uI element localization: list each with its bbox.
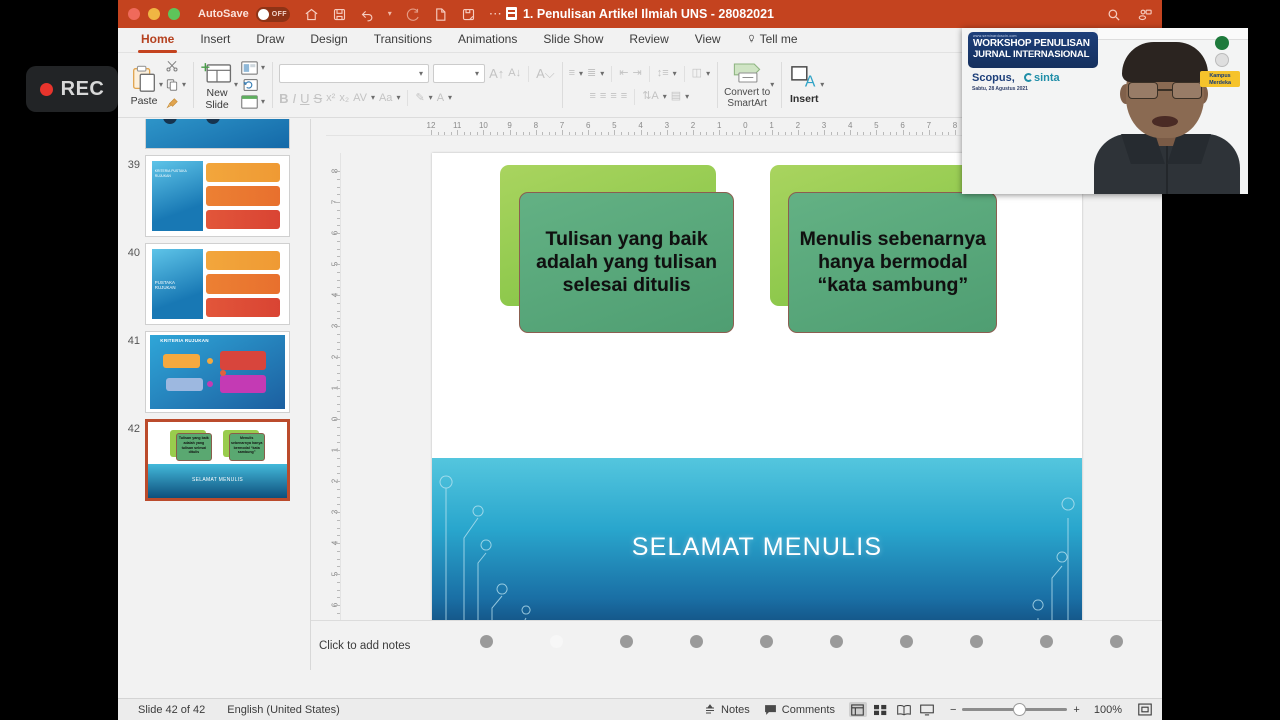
screen-root: REC AutoSave OFF — [0, 0, 1280, 720]
ruler-tick — [337, 435, 340, 436]
recording-indicator: REC — [26, 66, 118, 112]
ruler-tick — [334, 543, 340, 544]
ruler-tick — [857, 132, 858, 135]
ruler-tick — [739, 132, 740, 135]
ruler-tick — [337, 466, 340, 467]
scopus-logo: Scopus, — [972, 72, 1015, 84]
superscript-icon[interactable]: x² — [326, 93, 335, 104]
ruler-tick — [337, 225, 340, 226]
change-case-dropdown-icon[interactable]: ▾ — [396, 94, 400, 102]
zoom-slider[interactable]: − + — [950, 704, 1080, 716]
ruler-tick — [334, 574, 340, 575]
ruler-tick — [337, 249, 340, 250]
slide-canvas[interactable]: 87654321012345678 Tulisan yang baik adal… — [326, 136, 1162, 670]
kampus-merdeka-line-1: Kampus — [1209, 73, 1230, 79]
tab-view[interactable]: View — [682, 28, 734, 53]
subscript-icon[interactable]: x₂ — [339, 93, 349, 104]
align-text-icon[interactable]: ▤ — [671, 91, 681, 102]
ruler-tick — [337, 342, 340, 343]
ruler-tick — [337, 613, 340, 614]
comments-button[interactable]: Comments — [764, 704, 835, 716]
reading-view-button[interactable] — [895, 702, 913, 717]
thumbnail-slide[interactable]: KRITERIA PUSTAKARUJUKAN — [145, 155, 290, 237]
pagination-dot[interactable] — [480, 635, 493, 648]
maximize-window-button[interactable] — [168, 8, 180, 20]
zoom-in-button[interactable]: + — [1073, 704, 1079, 716]
thumbnail-item[interactable]: 39 KRITERIA PUSTAKARUJUKAN — [118, 149, 310, 237]
workshop-date: Sabtu, 28 Agustus 2021 — [972, 86, 1028, 92]
home-icon[interactable] — [304, 7, 319, 22]
pagination-dot[interactable] — [620, 635, 633, 648]
tab-transitions-label: Transitions — [374, 32, 432, 46]
language-label[interactable]: English (United States) — [227, 704, 340, 716]
paragraph-group: ≡ ▾ ≣ ▾ ⇤ ⇥ ↕≡ ▾ ◫ ▾ ≡ ≡ ≡ — [562, 53, 717, 117]
fit-slide-button[interactable] — [1136, 702, 1154, 717]
pagination-dot[interactable] — [900, 635, 913, 648]
text-direction-dropdown-icon[interactable]: ▾ — [663, 93, 667, 101]
insert-label: Insert — [790, 93, 819, 105]
ruler-tick — [686, 132, 687, 135]
insert-dropdown-icon[interactable]: ▾ — [820, 81, 824, 89]
slide-banner[interactable]: SELAMAT MENULIS — [432, 458, 1082, 645]
ruler-tick — [337, 566, 340, 567]
comment-icon — [764, 704, 777, 716]
font-color-dropdown-icon[interactable]: ▾ — [448, 94, 452, 102]
ruler-tick — [614, 130, 615, 135]
justify-icon[interactable]: ≡ — [621, 91, 627, 102]
ruler-tick — [896, 132, 897, 135]
redo-icon[interactable] — [405, 7, 420, 22]
fit-slide-icon — [1138, 703, 1152, 716]
font-group: ▾ ▾ A↑ A↓ A⌵ B I U — [272, 53, 562, 117]
new-slide-label-1: New — [207, 87, 228, 99]
ruler-label: 11 — [453, 121, 461, 130]
ruler-tick — [337, 489, 340, 490]
paste-button[interactable]: Paste — [129, 64, 159, 107]
ruler-tick — [337, 458, 340, 459]
thumbnail-slide[interactable]: SELAMAT MENULIS Tulisan yang baik adalah… — [145, 419, 290, 501]
window-controls[interactable] — [128, 8, 180, 20]
strikethrough-icon[interactable]: S — [313, 92, 322, 105]
paste-icon — [129, 64, 159, 94]
ruler-label: 8 — [953, 121, 957, 130]
recording-label: REC — [61, 78, 105, 101]
smartart-label-2: SmartArt — [727, 98, 766, 109]
normal-view-button[interactable] — [849, 702, 867, 717]
ruler-tick — [752, 132, 753, 135]
current-slide[interactable]: Tulisan yang baik adalah yang tulisan se… — [432, 153, 1082, 645]
ruler-tick — [791, 132, 792, 135]
ruler-tick — [628, 132, 629, 135]
ruler-tick — [337, 520, 340, 521]
layout-icon — [241, 61, 258, 75]
convert-to-smartart-button[interactable]: Convert toSmartArt — [724, 61, 770, 109]
line-spacing-dropdown-icon[interactable]: ▾ — [673, 70, 677, 78]
font-size-dropdown-icon[interactable]: ▾ — [475, 70, 479, 78]
ruler-tick — [948, 132, 949, 135]
align-text-dropdown-icon[interactable]: ▾ — [685, 93, 689, 101]
ruler-tick — [334, 326, 340, 327]
increase-indent-icon[interactable]: ⇥ — [633, 68, 642, 79]
zoom-out-button[interactable]: − — [950, 704, 956, 716]
thumbnail-slide[interactable] — [145, 119, 290, 149]
webcam-logos: Kampus Merdeka — [1200, 34, 1244, 87]
ruler-tick — [337, 528, 340, 529]
bullets-dropdown-icon[interactable]: ▾ — [579, 70, 583, 78]
banner-line-1: WORKSHOP PENULISAN — [973, 38, 1093, 49]
tab-draw[interactable]: Draw — [243, 28, 297, 53]
ruler-tick — [337, 559, 340, 560]
ruler-tick — [337, 287, 340, 288]
align-center-icon[interactable]: ≡ — [600, 91, 606, 102]
pagination-dot[interactable] — [970, 635, 983, 648]
ruler-tick — [798, 130, 799, 135]
copy-icon — [165, 78, 179, 92]
shape-right-text: Menulis sebenarnya hanya bermodal “kata … — [789, 228, 996, 297]
font-size-input[interactable]: ▾ — [433, 64, 485, 83]
normal-view-icon — [851, 704, 864, 716]
smartart-group: Convert toSmartArt ▾ — [717, 53, 781, 117]
slideshow-button[interactable] — [918, 702, 936, 717]
tab-tell-me[interactable]: Tell me — [734, 28, 811, 53]
font-name-input[interactable]: ▾ — [279, 64, 429, 83]
ruler-tick — [334, 450, 340, 451]
ruler-tick — [337, 504, 340, 505]
ruler-tick — [909, 132, 910, 135]
undo-icon[interactable] — [360, 7, 375, 22]
ruler-tick — [334, 202, 340, 203]
ruler-tick — [337, 442, 340, 443]
slide-sorter-button[interactable] — [872, 702, 890, 717]
status-bar: Slide 42 of 42 English (United States) N… — [118, 698, 1162, 720]
slide-shape-left[interactable]: Tulisan yang baik adalah yang tulisan se… — [500, 165, 734, 332]
columns-icon[interactable]: ◫ — [692, 68, 702, 79]
thumbnail-item[interactable]: 40 PUSTAKARUJUKAN — [118, 237, 310, 325]
character-spacing-icon[interactable]: AV — [353, 93, 367, 104]
slideshow-icon — [920, 704, 934, 716]
shape-body[interactable]: Tulisan yang baik adalah yang tulisan se… — [519, 192, 734, 333]
pagination-dot[interactable] — [1040, 635, 1053, 648]
ruler-tick — [575, 132, 576, 135]
notes-pane[interactable]: Click to add notes — [311, 620, 1162, 670]
notes-button[interactable]: Notes — [704, 704, 750, 716]
ruler-tick — [759, 132, 760, 135]
paste-label: Paste — [131, 95, 158, 107]
tab-tell-me-label: Tell me — [760, 32, 798, 46]
shape-body[interactable]: Menulis sebenarnya hanya bermodal “kata … — [788, 192, 997, 333]
ruler-tick — [334, 233, 340, 234]
ruler-tick — [542, 132, 543, 135]
ruler-label: 7 — [927, 121, 931, 130]
tab-animations[interactable]: Animations — [445, 28, 530, 53]
ruler-tick — [444, 132, 445, 135]
reading-view-icon — [897, 704, 911, 716]
ruler-tick — [337, 597, 340, 598]
kampus-merdeka-logo: Kampus Merdeka — [1200, 71, 1240, 87]
ruler-tick — [477, 132, 478, 135]
new-slide-label-2: Slide — [205, 99, 228, 111]
notes-placeholder: Click to add notes — [319, 640, 410, 652]
ruler-tick — [337, 497, 340, 498]
ruler-tick — [337, 318, 340, 319]
text-direction-icon[interactable]: ⇅A — [642, 91, 659, 102]
ruler-label: 2 — [691, 121, 695, 130]
ruler-tick — [765, 132, 766, 135]
ruler-tick — [497, 132, 498, 135]
layout-dropdown-icon[interactable]: ▾ — [261, 64, 265, 72]
ruler-tick — [621, 132, 622, 135]
ruler-tick — [870, 132, 871, 135]
ruler-tick — [582, 132, 583, 135]
sinta-logo: sinta — [1024, 72, 1060, 84]
pagination-dot[interactable] — [550, 635, 563, 648]
more-icon[interactable]: ⋯ — [489, 10, 503, 18]
bold-icon[interactable]: B — [279, 92, 288, 105]
ruler-tick — [334, 481, 340, 482]
ruler-label: 3 — [665, 121, 669, 130]
close-window-button[interactable] — [128, 8, 140, 20]
decrease-font-size-icon[interactable]: A↓ — [508, 68, 521, 79]
thumbnail-number: 39 — [124, 155, 140, 171]
tab-insert[interactable]: Insert — [187, 28, 243, 53]
ruler-tick — [529, 132, 530, 135]
ruler-label: 5 — [874, 121, 878, 130]
share-icon[interactable] — [1137, 7, 1152, 22]
ruler-tick — [831, 132, 832, 135]
window-title-bar: AutoSave OFF ▾ — [118, 0, 1162, 28]
slide-sorter-icon — [874, 704, 887, 716]
smartart-dropdown-icon[interactable]: ▾ — [770, 81, 774, 89]
copy-button[interactable]: ▾ — [165, 78, 186, 92]
ruler-tick — [337, 365, 340, 366]
ruler-label: 1 — [769, 121, 773, 130]
thumbnail-item[interactable]: 38 — [118, 119, 310, 149]
ruler-tick — [641, 130, 642, 135]
ruler-tick — [595, 132, 596, 135]
ruler-tick — [562, 130, 563, 135]
save-as-icon[interactable] — [461, 7, 476, 22]
ruler-tick — [844, 132, 845, 135]
character-spacing-dropdown-icon[interactable]: ▾ — [371, 94, 375, 102]
ruler-tick — [337, 396, 340, 397]
ruler-tick — [660, 132, 661, 135]
decrease-indent-icon[interactable]: ⇤ — [619, 68, 628, 79]
zoom-track[interactable] — [962, 708, 1067, 711]
thumbnail-item[interactable]: 41 KRITERIA RUJUKAN — [118, 325, 310, 413]
ruler-tick — [337, 210, 340, 211]
zoom-knob[interactable] — [1013, 703, 1026, 716]
align-right-icon[interactable]: ≡ — [610, 91, 616, 102]
ruler-tick — [337, 241, 340, 242]
ruler-tick — [549, 132, 550, 135]
ruler-tick — [883, 132, 884, 135]
pagination-dot[interactable] — [690, 635, 703, 648]
change-case-icon[interactable]: Aa — [379, 93, 392, 104]
font-color-icon[interactable]: A — [437, 93, 444, 104]
ruler-tick — [876, 130, 877, 135]
ruler-tick — [337, 590, 340, 591]
ruler-tick — [929, 130, 930, 135]
banner-line-2: JURNAL INTERNASIONAL — [973, 49, 1093, 60]
search-icon[interactable] — [1106, 7, 1121, 22]
numbering-icon[interactable]: ≣ — [587, 68, 596, 79]
ruler-tick — [337, 349, 340, 350]
reset-slide-icon — [241, 78, 258, 92]
italic-icon[interactable]: I — [292, 92, 296, 105]
ruler-tick — [922, 132, 923, 135]
highlight-dropdown-icon[interactable]: ▾ — [429, 94, 433, 102]
bullets-icon[interactable]: ≡ — [569, 68, 575, 79]
tab-slide-show[interactable]: Slide Show — [530, 28, 616, 53]
ruler-tick — [700, 132, 701, 135]
new-slide-button[interactable]: NewSlide — [200, 60, 234, 111]
ruler-tick — [483, 130, 484, 135]
text-highlight-icon[interactable]: ✎ — [415, 93, 424, 104]
ruler-tick — [337, 473, 340, 474]
tab-home-label: Home — [141, 32, 174, 46]
line-spacing-icon[interactable]: ↕≡ — [657, 68, 669, 79]
ruler-tick — [667, 130, 668, 135]
new-slide-dropdown-icon[interactable]: ▾ — [234, 81, 238, 89]
thumbnail-item-selected[interactable]: 42 SELAMAT MENULIS Tulisan yang baik ada… — [118, 413, 310, 501]
ruler-tick — [785, 132, 786, 135]
ruler-tick — [673, 132, 674, 135]
lightbulb-icon — [747, 29, 756, 40]
ruler-tick — [903, 130, 904, 135]
font-name-dropdown-icon[interactable]: ▾ — [419, 70, 423, 78]
slide-counter: Slide 42 of 42 — [138, 704, 205, 716]
ruler-tick — [634, 132, 635, 135]
tab-review[interactable]: Review — [616, 28, 681, 53]
smartart-label-1: Convert to — [724, 87, 770, 98]
columns-dropdown-icon[interactable]: ▾ — [706, 70, 710, 78]
thumbnail-banner-text: SELAMAT MENULIS — [148, 477, 287, 483]
thumbnail-box-left: Tulisan yang baik adalah yang tulisan se… — [176, 433, 212, 460]
tab-view-label: View — [695, 32, 721, 46]
notes-label: Notes — [721, 704, 750, 716]
ruler-tick — [726, 132, 727, 135]
insert-shape-button[interactable]: A Insert — [788, 65, 820, 105]
uns-logo-icon — [1215, 36, 1229, 50]
ruler-label: 5 — [612, 121, 616, 130]
ruler-label: 9 — [507, 121, 511, 130]
ruler-label: 6 — [900, 121, 904, 130]
paste-dropdown-icon[interactable]: ▾ — [159, 81, 163, 89]
thumbnail-number: 42 — [124, 419, 140, 435]
ruler-tick — [942, 132, 943, 135]
ruler-tick — [719, 130, 720, 135]
banner-text: SELAMAT MENULIS — [432, 533, 1082, 562]
undo-dropdown-icon[interactable]: ▾ — [388, 10, 392, 18]
ruler-tick — [451, 132, 452, 135]
underline-icon[interactable]: U — [300, 92, 309, 105]
layout-button[interactable]: ▾ — [241, 61, 265, 75]
ruler-tick — [490, 132, 491, 135]
reset-button[interactable] — [241, 78, 265, 92]
ruler-tick — [337, 535, 340, 536]
ruler-tick — [804, 132, 805, 135]
insert-group: A Insert ▾ — [781, 53, 831, 117]
tab-insert-label: Insert — [200, 32, 230, 46]
thumbnail-slide[interactable]: KRITERIA RUJUKAN — [145, 331, 290, 413]
workshop-banner: www.seminardoscin.com WORKSHOP PENULISAN… — [968, 32, 1098, 68]
ruler-tick — [850, 130, 851, 135]
toggle-knob-icon — [258, 9, 269, 20]
ruler-tick — [334, 264, 340, 265]
section-icon — [241, 95, 258, 109]
ruler-tick — [438, 132, 439, 135]
minimize-window-button[interactable] — [148, 8, 160, 20]
tab-design[interactable]: Design — [297, 28, 360, 53]
ruler-tick — [337, 427, 340, 428]
section-button[interactable]: ▾ — [241, 95, 265, 109]
pagination-dot[interactable] — [760, 635, 773, 648]
ruler-tick — [955, 130, 956, 135]
thumbnail-box-right: Menulis sebenarnya hanya bermodal “kata … — [229, 433, 265, 460]
pagination-dot[interactable] — [830, 635, 843, 648]
autosave-toggle[interactable]: OFF — [256, 7, 290, 22]
ruler-tick — [569, 132, 570, 135]
ruler-tick — [337, 256, 340, 257]
ruler-label: 1 — [717, 121, 721, 130]
ruler-tick — [778, 132, 779, 135]
ruler-tick — [334, 605, 340, 606]
ruler-label: 12 — [427, 121, 436, 130]
increase-font-size-icon[interactable]: A↑ — [489, 67, 504, 80]
thumbnail-number: 40 — [124, 243, 140, 259]
tab-design-label: Design — [310, 32, 347, 46]
slide-editor: 121110987654321012345678 876543210123456… — [311, 119, 1162, 670]
sinta-ring-icon — [1024, 73, 1033, 82]
ruler-label: 4 — [848, 121, 852, 130]
smartart-icon — [729, 61, 765, 85]
tab-transitions[interactable]: Transitions — [361, 28, 445, 53]
ruler-tick — [890, 132, 891, 135]
slide-thumbnail-pane[interactable]: 38 39 KRITERIA PUSTAKARUJU — [118, 119, 311, 670]
webcam-overlay[interactable]: www.seminardoscin.com WORKSHOP PENULISAN… — [962, 28, 1248, 194]
thumbnail-slide[interactable]: PUSTAKARUJUKAN — [145, 243, 290, 325]
numbering-dropdown-icon[interactable]: ▾ — [600, 70, 604, 78]
align-left-icon[interactable]: ≡ — [590, 91, 596, 102]
ruler-tick — [772, 130, 773, 135]
tab-animations-label: Animations — [458, 32, 517, 46]
format-painter-button[interactable] — [165, 97, 186, 111]
new-slide-icon — [200, 60, 234, 86]
ruler-tick — [680, 132, 681, 135]
cut-button[interactable] — [165, 59, 186, 73]
ruler-tick — [745, 130, 746, 135]
ruler-tick — [337, 272, 340, 273]
ruler-tick — [824, 130, 825, 135]
notes-icon — [704, 704, 716, 716]
save-icon[interactable] — [332, 7, 347, 22]
vertical-ruler[interactable]: 87654321012345678 — [326, 153, 341, 670]
ruler-tick — [536, 130, 537, 135]
ruler-tick — [334, 512, 340, 513]
section-dropdown-icon[interactable]: ▾ — [261, 98, 265, 106]
copy-dropdown-icon[interactable]: ▾ — [182, 81, 186, 89]
ruler-tick — [863, 132, 864, 135]
insert-textbox-icon: A — [788, 65, 820, 91]
new-file-icon[interactable] — [433, 7, 448, 22]
scissors-icon — [165, 59, 179, 73]
ruler-label: 4 — [638, 121, 642, 130]
tab-home[interactable]: Home — [128, 28, 187, 53]
ruler-tick — [334, 171, 340, 172]
clear-formatting-icon[interactable]: A⌵ — [536, 67, 555, 80]
pagination-dot[interactable] — [1110, 635, 1123, 648]
ruler-tick — [503, 132, 504, 135]
